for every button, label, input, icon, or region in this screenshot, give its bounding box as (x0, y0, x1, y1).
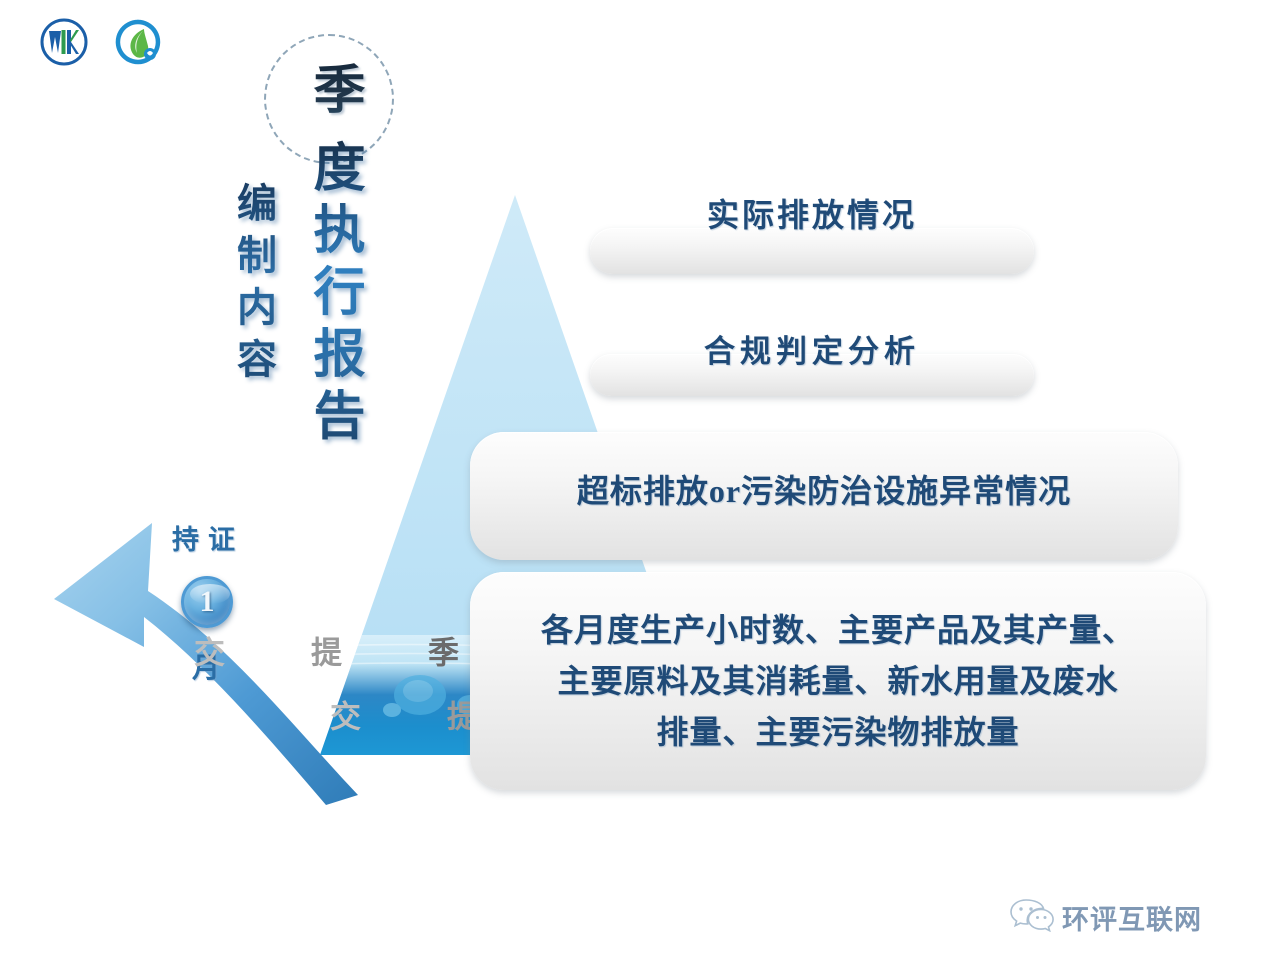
content-box-3-label: 超标排放or污染防治设施异常情况 (470, 466, 1178, 512)
month-badge: 1 (181, 576, 233, 628)
label-chizheng: 持证 (172, 518, 244, 557)
whk-circular-logo (40, 18, 88, 66)
logo-group (40, 18, 162, 66)
month-badge-number: 1 (200, 587, 215, 617)
watermark: 环评互联网 (1010, 898, 1202, 937)
title-sub-vertical: 编制内容 (224, 182, 282, 390)
wechat-bubbles-icon (1010, 898, 1054, 937)
content-box-4-line-3: 排量、主要污染物排放量 (470, 707, 1206, 758)
content-box-4-label: 各月度生产小时数、主要产品及其产量、 主要原料及其消耗量、新水用量及废水 排量、… (470, 605, 1206, 758)
slide-canvas: 季 度执行报告 编制内容 (0, 0, 1280, 965)
watermark-text: 环评互联网 (1062, 898, 1202, 937)
green-leaf-circular-logo (114, 18, 162, 66)
content-box-4-line-2: 主要原料及其消耗量、新水用量及废水 (470, 656, 1206, 707)
title-circled-character: 季 (296, 62, 371, 124)
content-box-2-label: 合规判定分析 (590, 326, 1034, 371)
content-box-4-line-1: 各月度生产小时数、主要产品及其产量、 (470, 605, 1206, 656)
ciji-char-4: 交 (320, 700, 365, 864)
content-box-1-label: 实际排放情况 (590, 190, 1034, 236)
dangji-char-4: 交 (184, 636, 229, 800)
